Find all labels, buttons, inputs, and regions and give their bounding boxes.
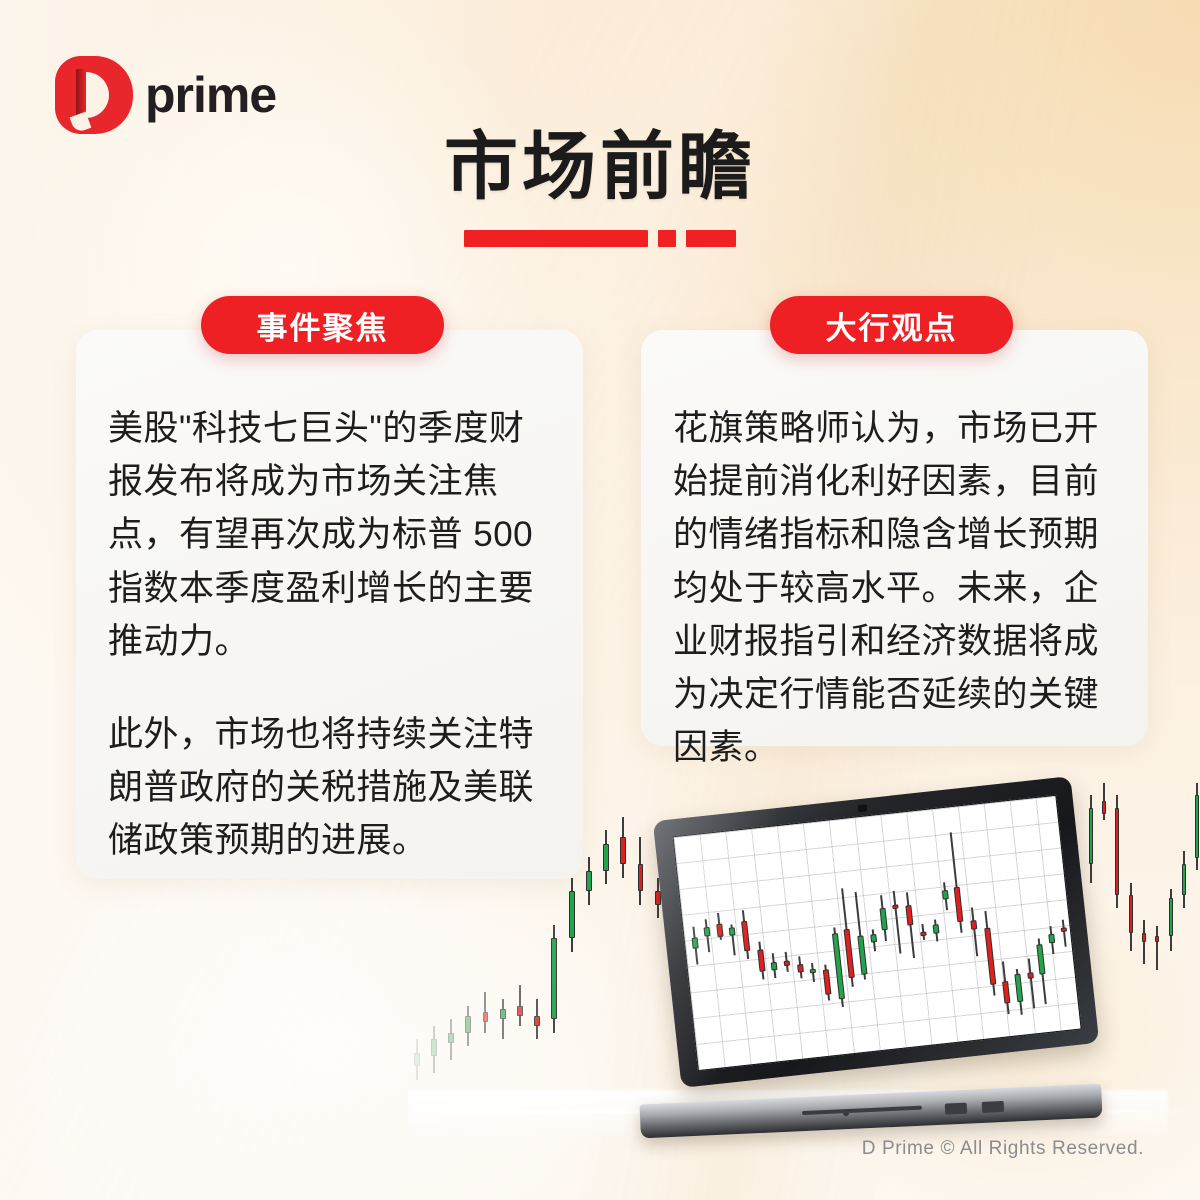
candlestick (534, 999, 540, 1039)
candle-body (483, 1012, 489, 1022)
candle-wick (1183, 851, 1185, 907)
candlestick (1142, 920, 1146, 964)
candlestick (1182, 851, 1186, 907)
candle-wick (571, 878, 573, 952)
title-underline-decoration (0, 230, 1200, 247)
candle-wick (536, 999, 538, 1039)
candlestick (1129, 883, 1133, 952)
candle-wick (622, 817, 624, 878)
candlestick (551, 925, 557, 1033)
candle-wick (484, 992, 486, 1032)
candle-wick (1143, 920, 1145, 964)
candlestick (569, 878, 575, 952)
page-title: 市场前瞻 (0, 130, 1200, 204)
footer-copyright: D Prime © All Rights Reserved. (862, 1138, 1144, 1160)
badge-event-focus[interactable]: 事件聚焦 (201, 296, 444, 354)
candlestick (483, 992, 489, 1032)
candle-wick (605, 830, 607, 884)
candle-body (1195, 795, 1199, 858)
candle-body (1142, 933, 1146, 942)
poster-canvas: prime 市场前瞻 美股"科技七巨头"的季度财报发布将成为市场关注焦点，有望再… (0, 0, 1200, 1200)
candle-wick (588, 857, 590, 904)
candle-wick (519, 985, 521, 1025)
laptop-base-slot (802, 1106, 922, 1115)
candlestick (431, 1026, 437, 1073)
d-prime-logo-mark-icon (55, 56, 133, 134)
candle-body (414, 1053, 420, 1066)
laptop-port-2 (982, 1101, 1004, 1113)
brand-logo-wordmark: prime (145, 70, 276, 120)
hero-illustration (0, 770, 1200, 1200)
chart-gridlines (674, 796, 1081, 1070)
card-bank-view-body: 花旗策略师认为，市场已开始提前消化利好因素，目前的情绪指标和隐含增长预期均处于较… (673, 402, 1118, 774)
underline-segment-long (464, 230, 648, 247)
candle-wick (433, 1026, 435, 1073)
laptop-lid (653, 776, 1099, 1088)
underline-segment-dot (658, 230, 676, 247)
candlestick (448, 1019, 454, 1059)
logo-ring-shape (55, 56, 133, 134)
candle-body (569, 891, 575, 938)
candle-body (1169, 898, 1173, 936)
candlestick (465, 1006, 471, 1046)
candlestick (1115, 795, 1119, 908)
candlestick (1195, 783, 1199, 871)
brand-logo: prime (55, 56, 276, 134)
candle-body (1129, 895, 1133, 933)
candlestick (620, 817, 626, 878)
candle-body (620, 837, 626, 864)
candle-wick (1116, 795, 1118, 908)
candlestick (603, 830, 609, 884)
candlestick (1155, 926, 1159, 970)
candle-wick (1196, 783, 1198, 871)
candle-wick (502, 999, 504, 1039)
card-bank-view: 花旗策略师认为，市场已开始提前消化利好因素，目前的情绪指标和隐含增长预期均处于较… (641, 330, 1148, 746)
laptop-screen (672, 795, 1081, 1071)
candle-wick (1156, 926, 1158, 970)
candle-body (448, 1033, 454, 1043)
candle-body (517, 1006, 523, 1016)
page-title-block: 市场前瞻 (0, 130, 1200, 247)
candle-body (586, 871, 592, 891)
candle-body (431, 1039, 437, 1056)
laptop-port-1 (945, 1103, 967, 1115)
candle-body (534, 1016, 540, 1026)
candlestick (517, 985, 523, 1025)
card-event-focus-paragraph-1: 美股"科技七巨头"的季度财报发布将成为市场关注焦点，有望再次成为标普 500 指… (108, 402, 553, 668)
candle-body (1155, 936, 1159, 942)
candle-body (1115, 808, 1119, 896)
candle-body (1182, 864, 1186, 895)
candle-wick (450, 1019, 452, 1059)
candle-wick (1170, 889, 1172, 952)
candlestick (414, 1039, 420, 1079)
candle-wick (416, 1039, 418, 1079)
candle-wick (553, 925, 555, 1033)
card-bank-view-paragraph-1: 花旗策略师认为，市场已开始提前消化利好因素，目前的情绪指标和隐含增长预期均处于较… (673, 402, 1118, 774)
badge-bank-view[interactable]: 大行观点 (770, 296, 1013, 354)
candle-wick (1130, 883, 1132, 952)
candlestick (1169, 889, 1173, 952)
candle-body (551, 938, 557, 1019)
candle-wick (467, 1006, 469, 1046)
underline-segment-mid (686, 230, 736, 247)
candlestick (500, 999, 506, 1039)
candle-body (603, 844, 609, 871)
candle-body (500, 1009, 506, 1019)
laptop-illustration (640, 798, 1110, 1128)
candlestick (586, 857, 592, 904)
candle-body (465, 1016, 471, 1033)
